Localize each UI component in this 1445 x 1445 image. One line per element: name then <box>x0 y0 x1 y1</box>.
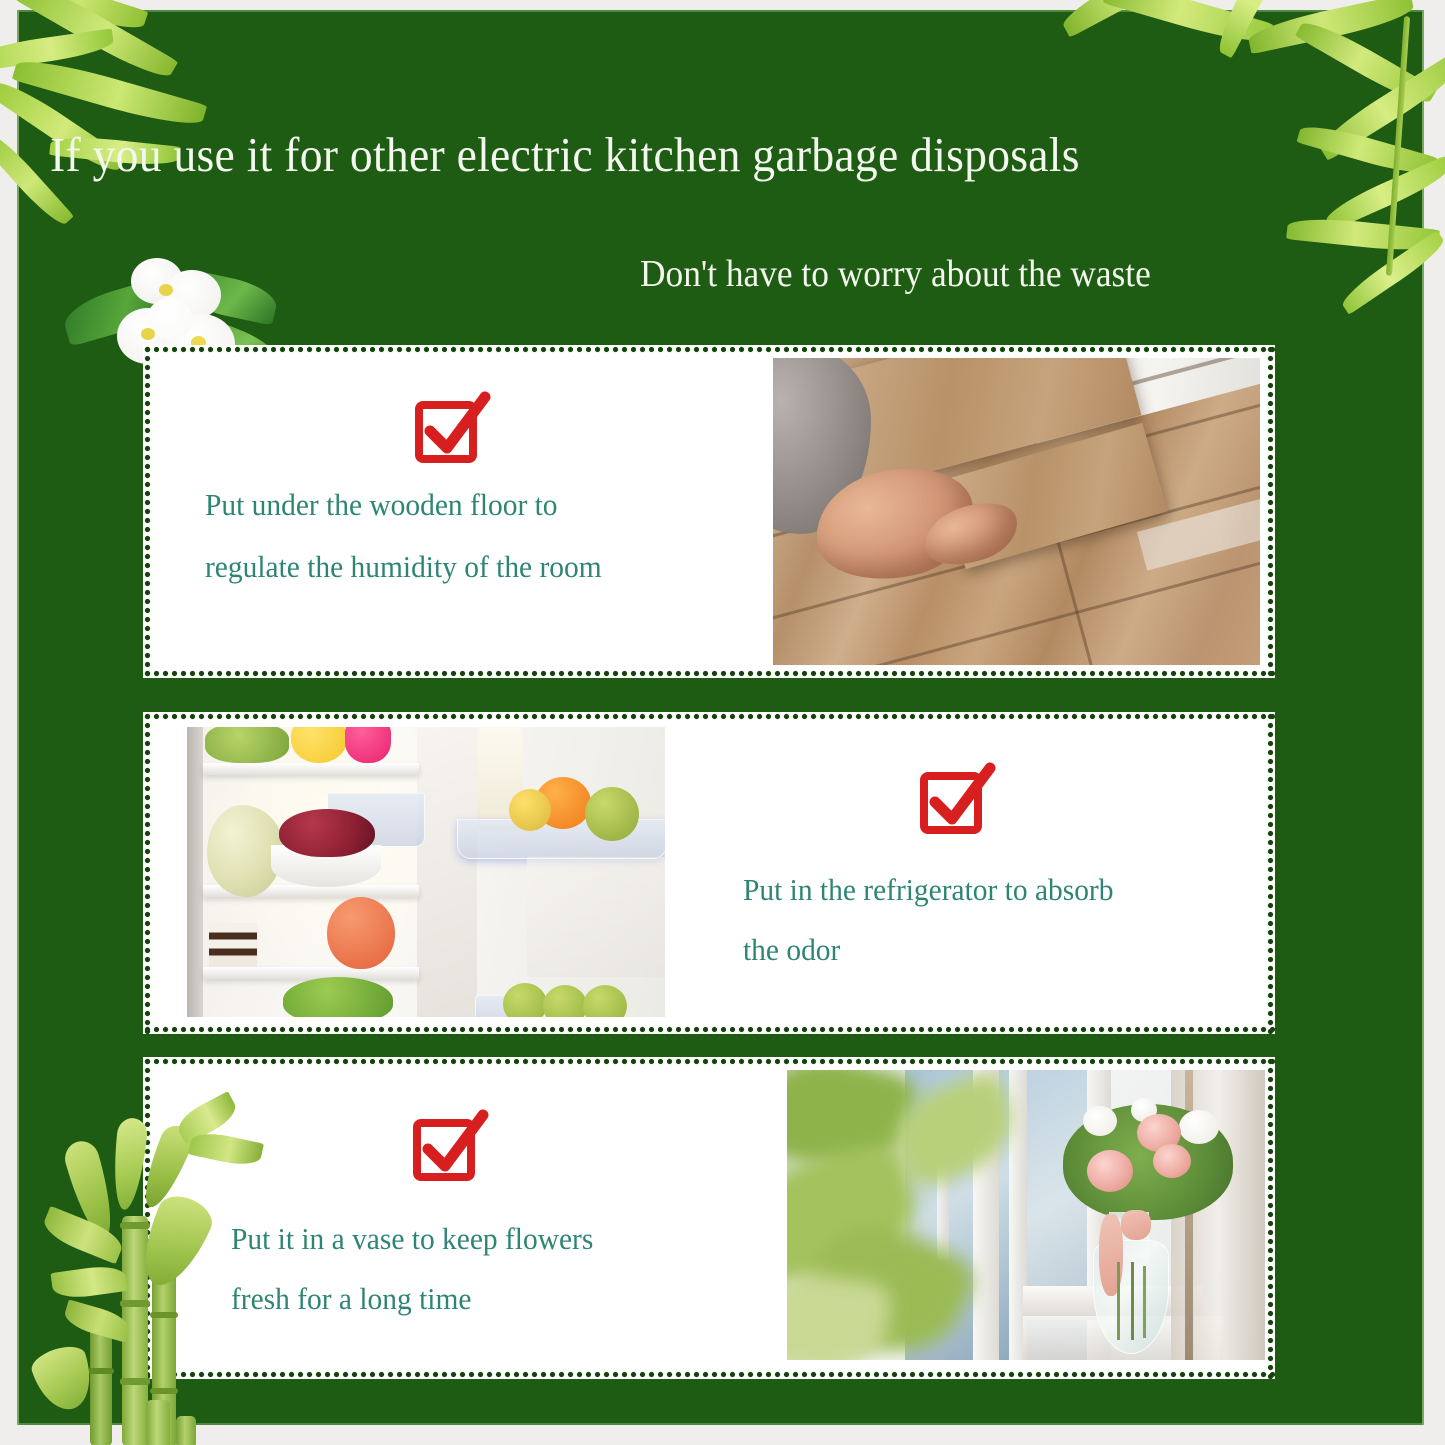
card-vase-text-line-1: Put it in a vase to keep flowers <box>231 1209 839 1269</box>
page-subtitle: Don't have to worry about the waste <box>640 253 1347 297</box>
card-refrigerator[interactable]: Put in the refrigerator to absorb the od… <box>143 712 1275 1034</box>
lucky-bamboo-bottom-left <box>18 1100 288 1445</box>
infographic-root: If you use it for other electric kitchen… <box>0 0 1445 1445</box>
card-vase-text-line-2: fresh for a long time <box>231 1269 725 1329</box>
red-check-box-icon <box>411 1109 487 1185</box>
page-title: If you use it for other electric kitchen… <box>50 128 1306 183</box>
card-vase[interactable]: Put it in a vase to keep flowers fresh f… <box>143 1057 1275 1379</box>
red-check-box-icon <box>413 391 489 467</box>
card-floor-image <box>773 358 1260 665</box>
card-refrigerator-text-line-1: Put in the refrigerator to absorb <box>743 860 1256 920</box>
red-check-box-icon <box>918 762 994 838</box>
card-vase-image <box>787 1070 1265 1360</box>
card-floor-text-line-2: regulate the humidity of the room <box>205 537 813 597</box>
card-refrigerator-image <box>187 727 665 1017</box>
card-floor-text-line-1: Put under the wooden floor to <box>205 475 775 535</box>
card-refrigerator-text-line-2: the odor <box>743 920 1123 980</box>
card-floor[interactable]: Put under the wooden floor to regulate t… <box>143 345 1275 678</box>
bamboo-leaves-top-left <box>0 0 290 232</box>
